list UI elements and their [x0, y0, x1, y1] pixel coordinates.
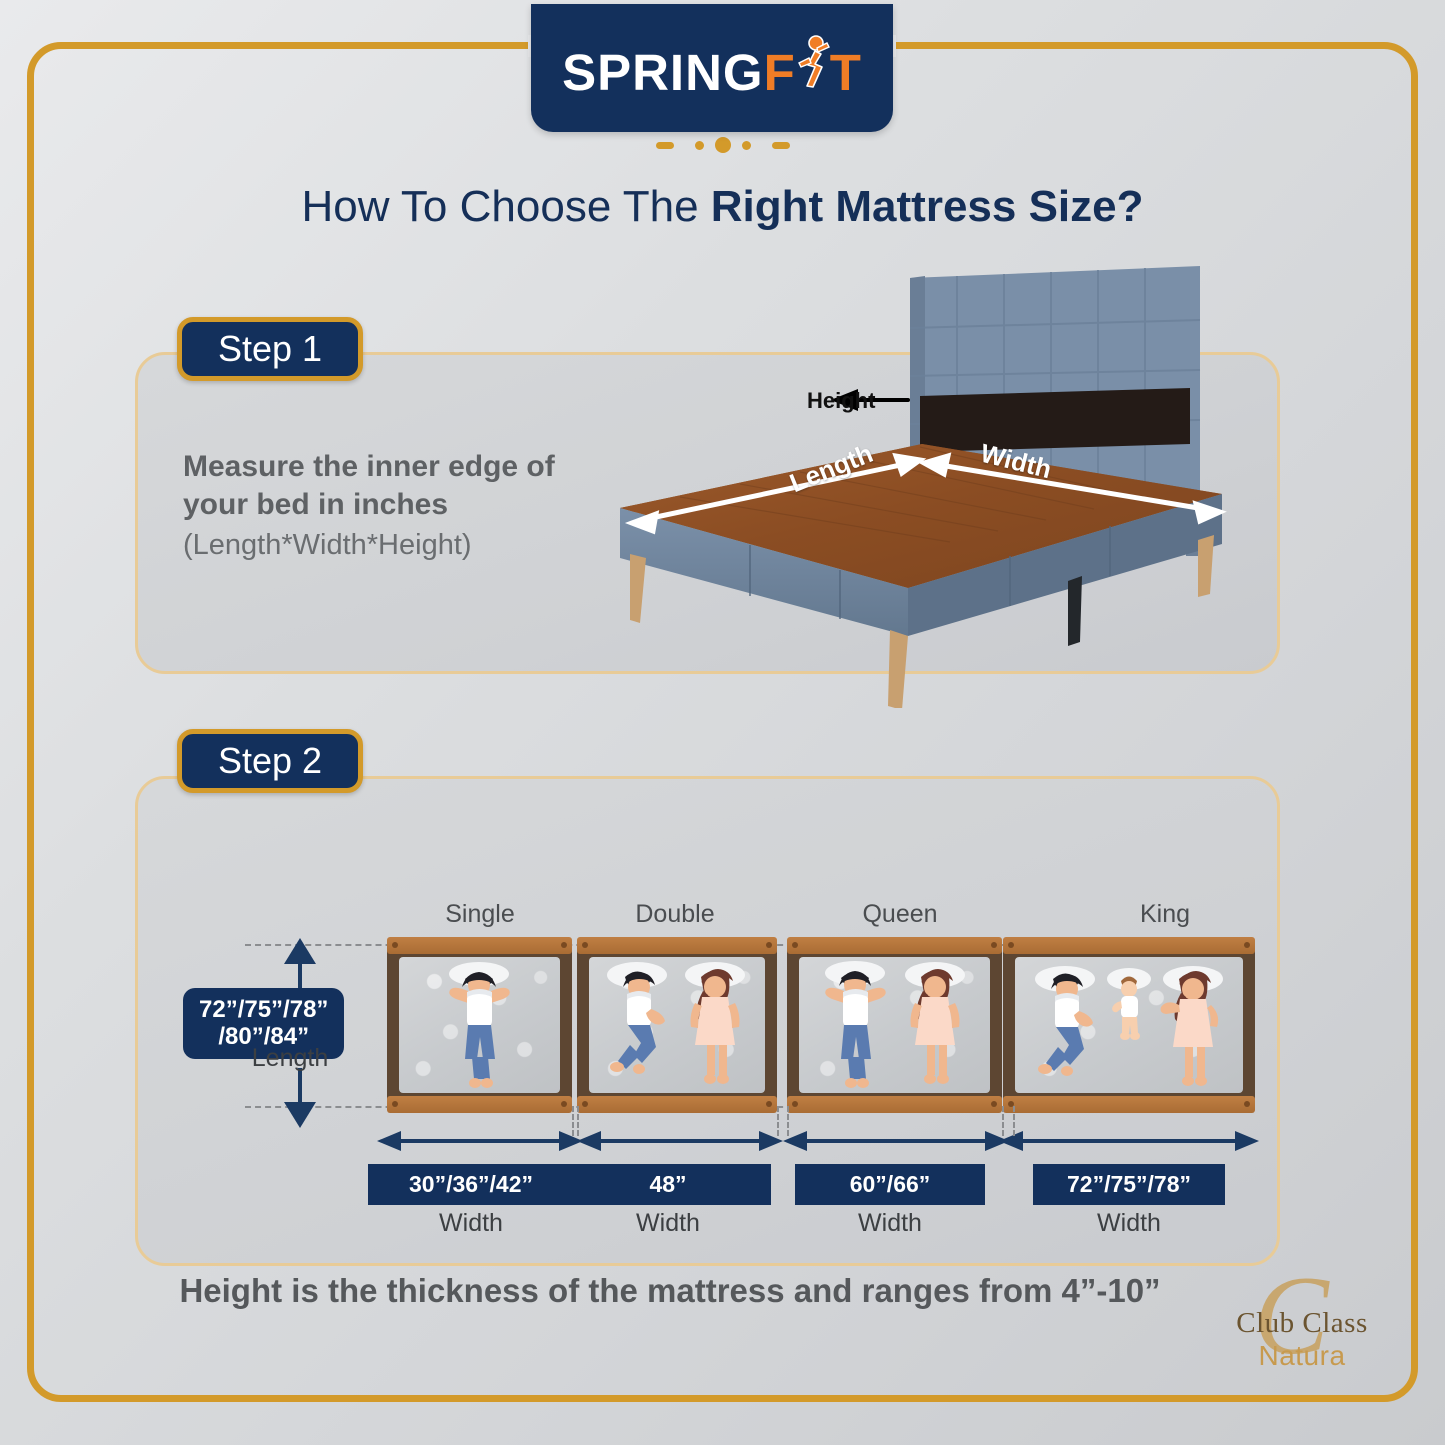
width-value-single: 30”/36”/42” — [368, 1164, 574, 1205]
bed-rail-top-queen — [787, 937, 1002, 954]
bed-queen — [787, 940, 1002, 1110]
size-name-queen: Queen — [800, 900, 1000, 929]
bed-label-height: Height — [807, 388, 875, 414]
width-label-double: Width — [565, 1209, 771, 1238]
sleepers-double-icon — [589, 957, 765, 1093]
size-name-double: Double — [575, 900, 775, 929]
runner-icon — [796, 34, 830, 90]
bed-rail-bottom-king — [1003, 1096, 1255, 1113]
step-1-instruction-sub: (Length*Width*Height) — [183, 527, 603, 564]
bed-rail-top-single — [387, 937, 572, 954]
ornament-dot-large — [715, 137, 731, 153]
bed-frame-illustration: Height Length Width — [590, 258, 1270, 708]
width-label-king: Width — [1033, 1209, 1225, 1238]
sleepers-king-icon — [1015, 957, 1243, 1093]
page-title: How To Choose The Right Mattress Size? — [0, 182, 1445, 232]
bed-rail-bottom-single — [387, 1096, 572, 1113]
guide-tick-2 — [577, 1106, 579, 1136]
sleeper-single-icon — [399, 957, 560, 1093]
mattress-single — [399, 957, 560, 1093]
bed-king — [1003, 940, 1255, 1110]
club-class-natura-logo: C Club Class Natura — [1212, 1262, 1392, 1387]
width-value-double: 48” — [565, 1164, 771, 1205]
ornament-dot-small-right — [742, 141, 751, 150]
footer-note: Height is the thickness of the mattress … — [140, 1272, 1200, 1310]
logo-wordmark: SPRING F T — [562, 34, 862, 102]
guide-tick-6 — [1013, 1106, 1015, 1136]
step-1-instruction: Measure the inner edge of your bed in in… — [183, 448, 603, 564]
mattress-double — [589, 957, 765, 1093]
frame-dot-ornament — [668, 134, 778, 156]
width-label-single: Width — [368, 1209, 574, 1238]
logo-text-t: T — [830, 43, 862, 102]
width-value-king: 72”/75”/78” — [1033, 1164, 1225, 1205]
width-label-queen: Width — [795, 1209, 985, 1238]
bed-rail-top-double — [577, 937, 777, 954]
ornament-dot-small-left — [695, 141, 704, 150]
bed-single — [387, 940, 572, 1110]
width-value-queen: 60”/66” — [795, 1164, 985, 1205]
club-class-sub: Natura — [1212, 1340, 1392, 1372]
springfit-logo: SPRING F T — [531, 4, 893, 132]
page-title-bold: Right Mattress Size? — [711, 182, 1144, 231]
guide-tick-4 — [787, 1106, 789, 1136]
width-arrow-single — [375, 1128, 585, 1154]
size-name-king: King — [1065, 900, 1265, 929]
guide-tick-1 — [572, 1106, 574, 1136]
guide-tick-5 — [1002, 1106, 1004, 1136]
bed-rail-bottom-queen — [787, 1096, 1002, 1113]
logo-text-f: F — [764, 43, 796, 102]
bed-rail-bottom-double — [577, 1096, 777, 1113]
page-title-light: How To Choose The — [301, 182, 710, 231]
size-name-single: Single — [380, 900, 580, 929]
sleepers-queen-icon — [799, 957, 990, 1093]
step-1-badge: Step 1 — [177, 317, 363, 381]
bed-rail-top-king — [1003, 937, 1255, 954]
mattress-size-chart: 72”/75”/78” /80”/84” Length Single — [135, 776, 1280, 1266]
mattress-queen — [799, 957, 990, 1093]
width-arrow-double — [575, 1128, 785, 1154]
length-label: Length — [215, 1044, 365, 1073]
width-arrow-king — [997, 1128, 1261, 1154]
mattress-king — [1015, 957, 1243, 1093]
width-arrow-queen — [781, 1128, 1011, 1154]
step-1-instruction-main: Measure the inner edge of your bed in in… — [183, 448, 603, 525]
club-class-name: Club Class — [1212, 1307, 1392, 1340]
bed-double — [577, 940, 777, 1110]
step-2-badge: Step 2 — [177, 729, 363, 793]
logo-text-spring: SPRING — [562, 43, 764, 102]
guide-tick-3 — [777, 1106, 779, 1136]
